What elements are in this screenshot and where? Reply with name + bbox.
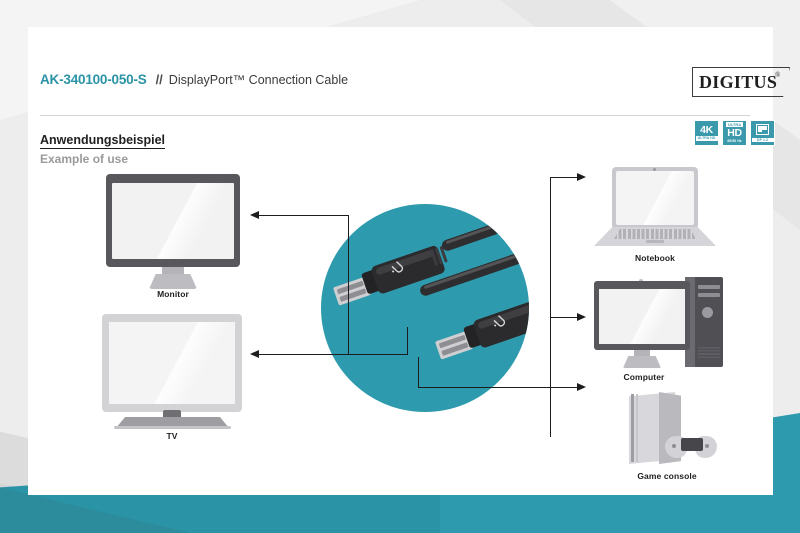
notebook-illustration [594,167,718,267]
monitor-screen-glare [112,183,234,259]
arrow-to-computer [577,313,586,321]
tv-bezel [102,314,242,412]
line-left-vertical [348,215,349,355]
tv-illustration [102,314,252,444]
controller-stick-right [705,444,709,448]
monitor-illustration [106,174,246,294]
arrow-to-notebook [577,173,586,181]
game-console-stripe-1 [631,394,634,462]
line-left-stub-vertical [407,327,408,355]
computer-drive-slot-1 [698,285,720,289]
notebook-lid [612,167,698,229]
content-card: AK-340100-050-S//DisplayPort™ Connection… [28,27,773,495]
datasheet-page: AK-340100-050-S//DisplayPort™ Connection… [0,0,800,533]
tv-screen-glare [109,322,235,404]
line-right-stub-vertical [418,357,419,388]
line-right-to-computer [550,317,578,318]
monitor-screen [112,183,234,259]
computer-label: Computer [594,372,694,382]
notebook-screen-glare [616,171,694,225]
usage-diagram: ⋅⋃ ⋅⋃ [28,27,773,495]
computer-power-button [702,307,713,318]
line-right-vertical [550,177,551,437]
computer-screen-glare [599,289,685,344]
tv-label: TV [102,431,242,441]
displayport-cable-photo: ⋅⋃ ⋅⋃ [321,204,529,412]
notebook-screen [616,171,694,225]
computer-illustration [594,277,728,387]
arrow-to-monitor [250,211,259,219]
computer-stand-base [623,356,661,368]
game-console-stripe-2 [636,394,638,462]
controller-stick-left [672,444,676,448]
computer-monitor-screen [599,289,685,344]
tv-stand-base-edge [114,426,231,429]
notebook-keyboard [614,229,696,239]
tv-screen [109,322,235,404]
computer-drive-slot-2 [698,293,720,297]
computer-vent [698,345,720,358]
monitor-stand-base [149,274,197,289]
monitor-bezel [106,174,240,267]
game-controller [665,436,717,460]
line-left-to-monitor [258,215,349,216]
game-console-label: Game console [605,471,729,481]
line-right-to-console [418,387,578,388]
computer-monitor-bezel [594,281,690,350]
notebook-label: Notebook [594,253,716,263]
line-left-to-tv [258,354,408,355]
notebook-trackpad [646,240,664,243]
monitor-label: Monitor [106,289,240,299]
controller-center [681,438,703,451]
line-right-to-notebook [550,177,578,178]
arrow-to-game-console [577,383,586,391]
logo-registered-mark: ® [775,71,780,79]
